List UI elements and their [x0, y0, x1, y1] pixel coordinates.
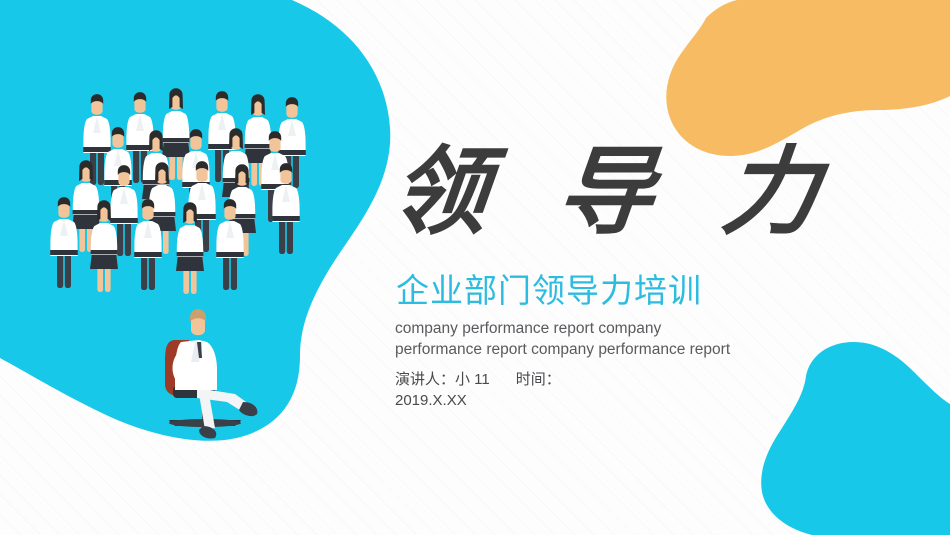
- date-value: 2019.X.XX: [395, 390, 695, 411]
- presenter-meta-line-1: 演讲人：小 11时间：: [395, 369, 695, 390]
- presentation-slide: 领 导 力 企业部门领导力培训 company performance repo…: [0, 0, 950, 535]
- presenter-meta: 演讲人：小 11时间： 2019.X.XX: [395, 369, 695, 411]
- english-tagline-line-1: company performance report company: [395, 318, 795, 339]
- english-tagline-line-2: performance report company performance r…: [395, 339, 795, 360]
- speaker-label: 演讲人：小 11: [395, 371, 490, 388]
- date-label: 时间：: [516, 371, 561, 388]
- title-text-block: 领 导 力 企业部门领导力培训 company performance repo…: [0, 0, 950, 535]
- page-subtitle: 企业部门领导力培训: [396, 272, 702, 310]
- english-tagline: company performance report company perfo…: [395, 318, 795, 360]
- page-title: 领 导 力: [386, 136, 798, 248]
